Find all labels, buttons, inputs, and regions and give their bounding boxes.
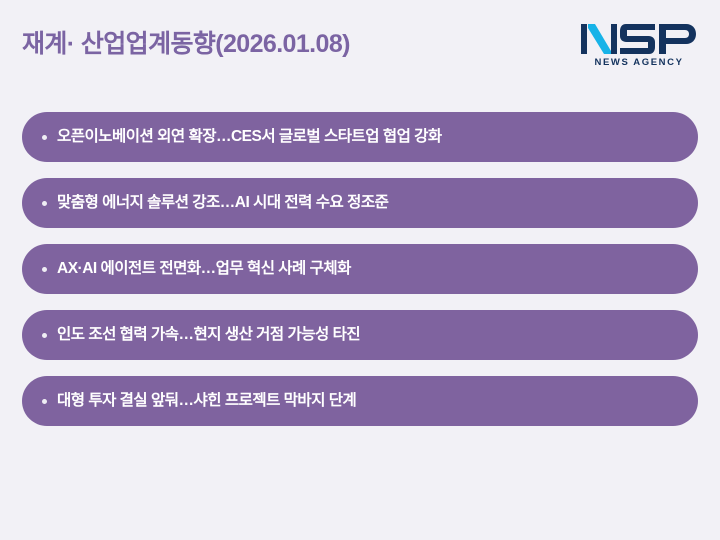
bullet-pill-5[interactable]: 대형 투자 결실 앞둬…샤힌 프로젝트 막바지 단계	[22, 376, 698, 426]
slide-header: 재계· 산업업계동향(2026.01.08) NEWS AGENCY	[0, 0, 720, 96]
bullet-pill-list: 오픈이노베이션 외연 확장…CES서 글로벌 스타트업 협업 강화 맞춤형 에너…	[0, 112, 720, 426]
nsp-wordmark-icon	[580, 22, 698, 56]
bullet-dot-icon	[42, 399, 47, 404]
bullet-dot-icon	[42, 333, 47, 338]
slide-canvas: 재계· 산업업계동향(2026.01.08) NEWS AGENCY 오픈이노베…	[0, 0, 720, 540]
bullet-dot-icon	[42, 135, 47, 140]
bullet-pill-4[interactable]: 인도 조선 협력 가속…현지 생산 거점 가능성 타진	[22, 310, 698, 360]
bullet-dot-icon	[42, 267, 47, 272]
bullet-text-1: 오픈이노베이션 외연 확장…CES서 글로벌 스타트업 협업 강화	[57, 128, 672, 147]
bullet-dot-icon	[42, 201, 47, 206]
bullet-pill-3[interactable]: AX·AI 에이전트 전면화…업무 혁신 사례 구체화	[22, 244, 698, 294]
logo-caption: NEWS AGENCY	[580, 58, 698, 68]
nsp-logo: NEWS AGENCY	[580, 22, 698, 74]
bullet-text-4: 인도 조선 협력 가속…현지 생산 거점 가능성 타진	[57, 326, 672, 345]
page-title: 재계· 산업업계동향(2026.01.08)	[22, 32, 350, 57]
bullet-pill-1[interactable]: 오픈이노베이션 외연 확장…CES서 글로벌 스타트업 협업 강화	[22, 112, 698, 162]
bullet-text-3: AX·AI 에이전트 전면화…업무 혁신 사례 구체화	[57, 260, 672, 279]
bullet-text-5: 대형 투자 결실 앞둬…샤힌 프로젝트 막바지 단계	[57, 392, 672, 411]
bullet-pill-2[interactable]: 맞춤형 에너지 솔루션 강조…AI 시대 전력 수요 정조준	[22, 178, 698, 228]
bullet-text-2: 맞춤형 에너지 솔루션 강조…AI 시대 전력 수요 정조준	[57, 194, 672, 213]
